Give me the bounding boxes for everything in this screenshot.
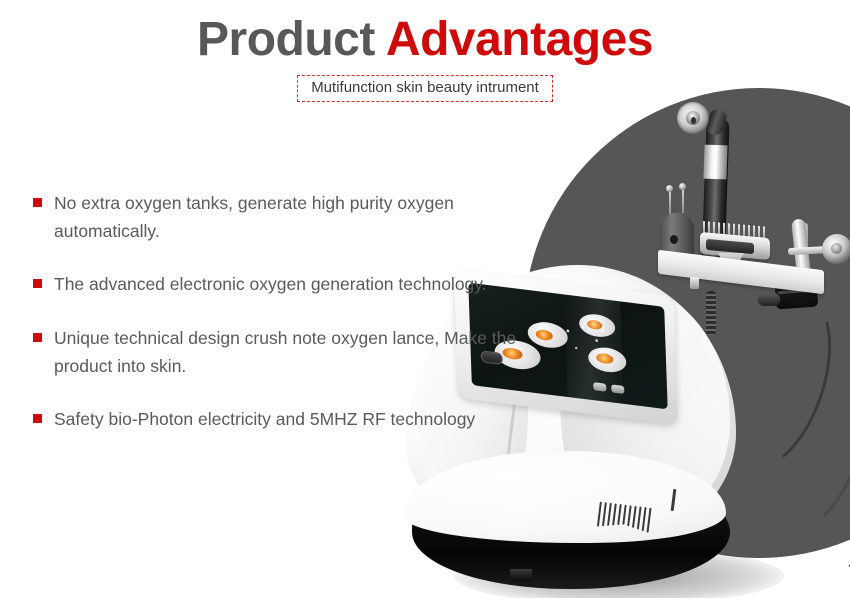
ventilation-slot [612, 503, 617, 525]
advantage-text-4: Safety bio-Photon electricity and 5MHZ R… [54, 406, 533, 434]
nozzle-antenna-tip [666, 185, 673, 192]
square-bullet-icon [33, 333, 42, 342]
square-bullet-icon [33, 414, 42, 423]
ventilation-slot [607, 503, 612, 526]
page-title: Product Advantages [0, 0, 850, 64]
square-bullet-icon [33, 198, 42, 207]
advantage-text-2: The advanced electronic oxygen generatio… [54, 271, 533, 299]
list-item: No extra oxygen tanks, generate high pur… [33, 190, 533, 245]
ventilation-slot [632, 506, 637, 528]
advantages-list: No extra oxygen tanks, generate high pur… [33, 190, 533, 434]
base-foot [510, 569, 532, 581]
subtitle-text: Mutifunction skin beauty intrument [311, 79, 539, 96]
header: Product Advantages Mutifunction skin bea… [0, 0, 850, 102]
handpiece-chrome-band [703, 145, 727, 180]
ventilation-slot [622, 505, 626, 525]
advantage-text-1: No extra oxygen tanks, generate high pur… [54, 190, 533, 245]
nozzle-antenna [682, 187, 684, 213]
nozzle-antenna [669, 189, 671, 215]
subtitle-box: Mutifunction skin beauty intrument [297, 75, 553, 102]
handpiece-tip-aperture [691, 117, 696, 124]
ventilation-slot [602, 502, 607, 526]
title-word-advantages: Advantages [386, 13, 653, 66]
square-bullet-icon [33, 279, 42, 288]
chrome-probe-disc-center [831, 243, 842, 254]
nozzle-aperture [670, 235, 678, 244]
ventilation-slot [627, 505, 632, 526]
connector-plug [758, 293, 780, 306]
list-item: Unique technical design crush note oxyge… [33, 325, 533, 380]
nozzle-antenna-tip [679, 183, 686, 190]
ventilation-slot [647, 508, 652, 533]
ventilation-slot [637, 506, 642, 529]
cable-coil [706, 291, 716, 335]
list-item: Safety bio-Photon electricity and 5MHZ R… [33, 406, 533, 434]
tray-screw [690, 277, 699, 289]
ventilation-slot [642, 507, 647, 531]
title-word-product: Product [197, 13, 375, 66]
list-item: The advanced electronic oxygen generatio… [33, 271, 533, 299]
product-advantages-banner: Product Advantages Mutifunction skin bea… [0, 0, 850, 598]
screen-glare [564, 295, 624, 406]
advantage-text-3: Unique technical design crush note oxyge… [54, 325, 533, 380]
ventilation-slot [617, 504, 622, 525]
